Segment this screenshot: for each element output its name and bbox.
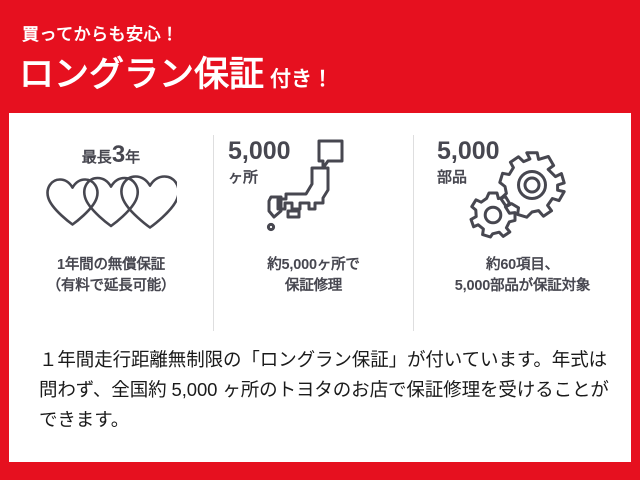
feature-service-locations-graphic: 5,000 ヶ所 bbox=[214, 135, 413, 255]
headline-unit: 年 bbox=[125, 149, 140, 166]
headline-prefix: 最長 bbox=[82, 149, 112, 166]
header-eyebrow-text: 買ってからも安心！ bbox=[22, 26, 179, 43]
headline-number: 5,000 bbox=[437, 139, 500, 164]
long-run-warranty-promo-card: 買ってからも安心！ ロングラン保証 付き！ 最長3年 bbox=[0, 0, 640, 480]
feature-warranty-term-graphic: 最長3年 bbox=[9, 135, 213, 255]
feature-covered-parts-graphic: 5,000 部品 bbox=[414, 135, 631, 255]
feature-warranty-term-caption: 1年間の無償保証 （有料で延長可能） bbox=[47, 255, 176, 297]
feature-service-locations-headline: 5,000 ヶ所 bbox=[228, 139, 291, 185]
feature-covered-parts-caption: 約60項目、 5,000部品が保証対象 bbox=[455, 255, 590, 297]
feature-warranty-term: 最長3年 1年間の無償保証 （有料で延長可能） bbox=[9, 135, 213, 331]
header-title: ロングラン保証 付き！ bbox=[19, 57, 333, 92]
header-title-main-text: ロングラン保証 bbox=[19, 57, 264, 92]
feature-service-locations-caption: 約5,000ヶ所で 保証修理 bbox=[267, 255, 360, 297]
feature-covered-parts: 5,000 部品 bbox=[413, 135, 631, 331]
three-hearts-icon bbox=[45, 173, 177, 234]
feature-warranty-term-headline: 最長3年 bbox=[9, 143, 213, 167]
headline-unit: 部品 bbox=[437, 170, 500, 185]
content-panel: 最長3年 1年間の無償保証 （有料で延長可能） bbox=[9, 113, 631, 462]
headline-unit: ヶ所 bbox=[228, 170, 291, 185]
feature-service-locations: 5,000 ヶ所 bbox=[213, 135, 413, 331]
headline-number: 5,000 bbox=[228, 139, 291, 164]
feature-covered-parts-headline: 5,000 部品 bbox=[437, 139, 500, 185]
features-row: 最長3年 1年間の無償保証 （有料で延長可能） bbox=[9, 135, 631, 331]
header-title-suffix-text: 付き！ bbox=[270, 69, 333, 90]
body-paragraph: １年間走行距離無制限の「ロングラン保証」が付いています。年式は問わず、全国約 5… bbox=[39, 345, 613, 435]
header-banner: 買ってからも安心！ ロングラン保証 付き！ bbox=[0, 0, 640, 113]
headline-number: 3 bbox=[112, 141, 125, 168]
